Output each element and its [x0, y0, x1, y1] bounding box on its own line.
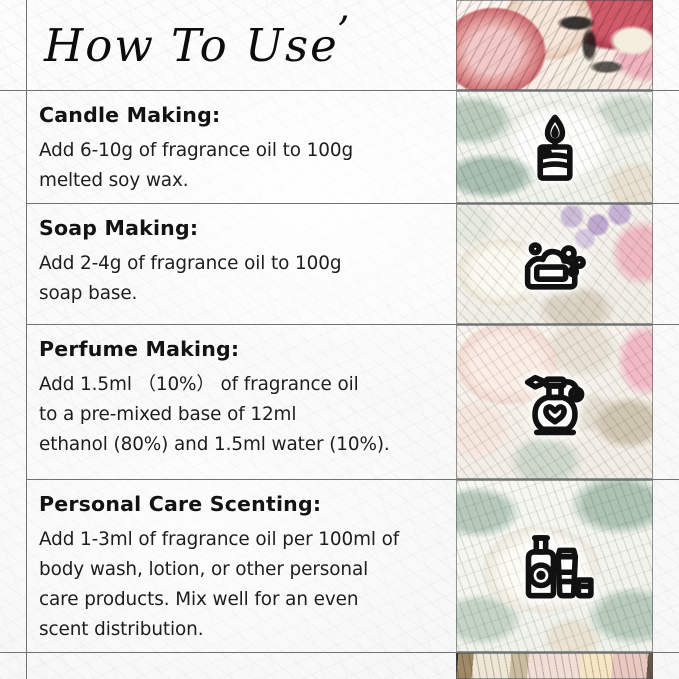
page-title-text: How To Use [44, 19, 339, 72]
section-personal-care-scenting: Personal Care Scenting: Add 1-3ml of fra… [27, 492, 456, 645]
candle-icon [516, 108, 594, 186]
section-candle-making: Candle Making: Add 6-10g of fragrance oi… [27, 103, 456, 196]
section-heading: Personal Care Scenting: [39, 492, 442, 516]
instructions-column: Candle Making: Add 6-10g of fragrance oi… [27, 91, 456, 652]
section-body: Add 2-4g of fragrance oil to 100g soap b… [39, 249, 442, 309]
title-band: How To Use’ [27, 0, 456, 90]
page-title: How To Use’ [44, 9, 351, 72]
section-heading: Candle Making: [39, 103, 442, 127]
section-soap-making: Soap Making: Add 2-4g of fragrance oil t… [27, 216, 456, 309]
floral-photo-strip [456, 0, 653, 679]
desk-books-photo [456, 653, 653, 679]
photo-cell-sage-blooms-photo [456, 480, 653, 652]
photo-cell-lilac-berries-photo [456, 204, 653, 324]
photo-cell-roses-ribbon-photo [456, 0, 653, 90]
photo-cell-desk-books-photo [456, 653, 653, 679]
section-body: Add 1-3ml of fragrance oil per 100ml of … [39, 525, 442, 645]
section-perfume-making: Perfume Making: Add 1.5ml （10%） of fragr… [27, 337, 456, 460]
divider-bottom [0, 652, 679, 653]
roses-ribbon-photo [456, 0, 653, 90]
section-body: Add 1.5ml （10%） of fragrance oil to a pr… [39, 370, 442, 460]
perfume-bottle-icon [516, 363, 594, 441]
soap-bar-icon [516, 225, 594, 303]
toiletry-bottles-icon [516, 527, 594, 605]
section-heading: Soap Making: [39, 216, 442, 240]
photo-cell-sage-lily-photo [456, 91, 653, 203]
photo-cell-magnolia-pods-photo [456, 325, 653, 479]
section-body: Add 6-10g of fragrance oil to 100g melte… [39, 136, 442, 196]
right-margin [653, 0, 679, 679]
how-to-use-infographic: How To Use’ Candle Making: Add 6-10g of … [0, 0, 679, 679]
section-heading: Perfume Making: [39, 337, 442, 361]
title-flourish: ’ [337, 9, 352, 55]
